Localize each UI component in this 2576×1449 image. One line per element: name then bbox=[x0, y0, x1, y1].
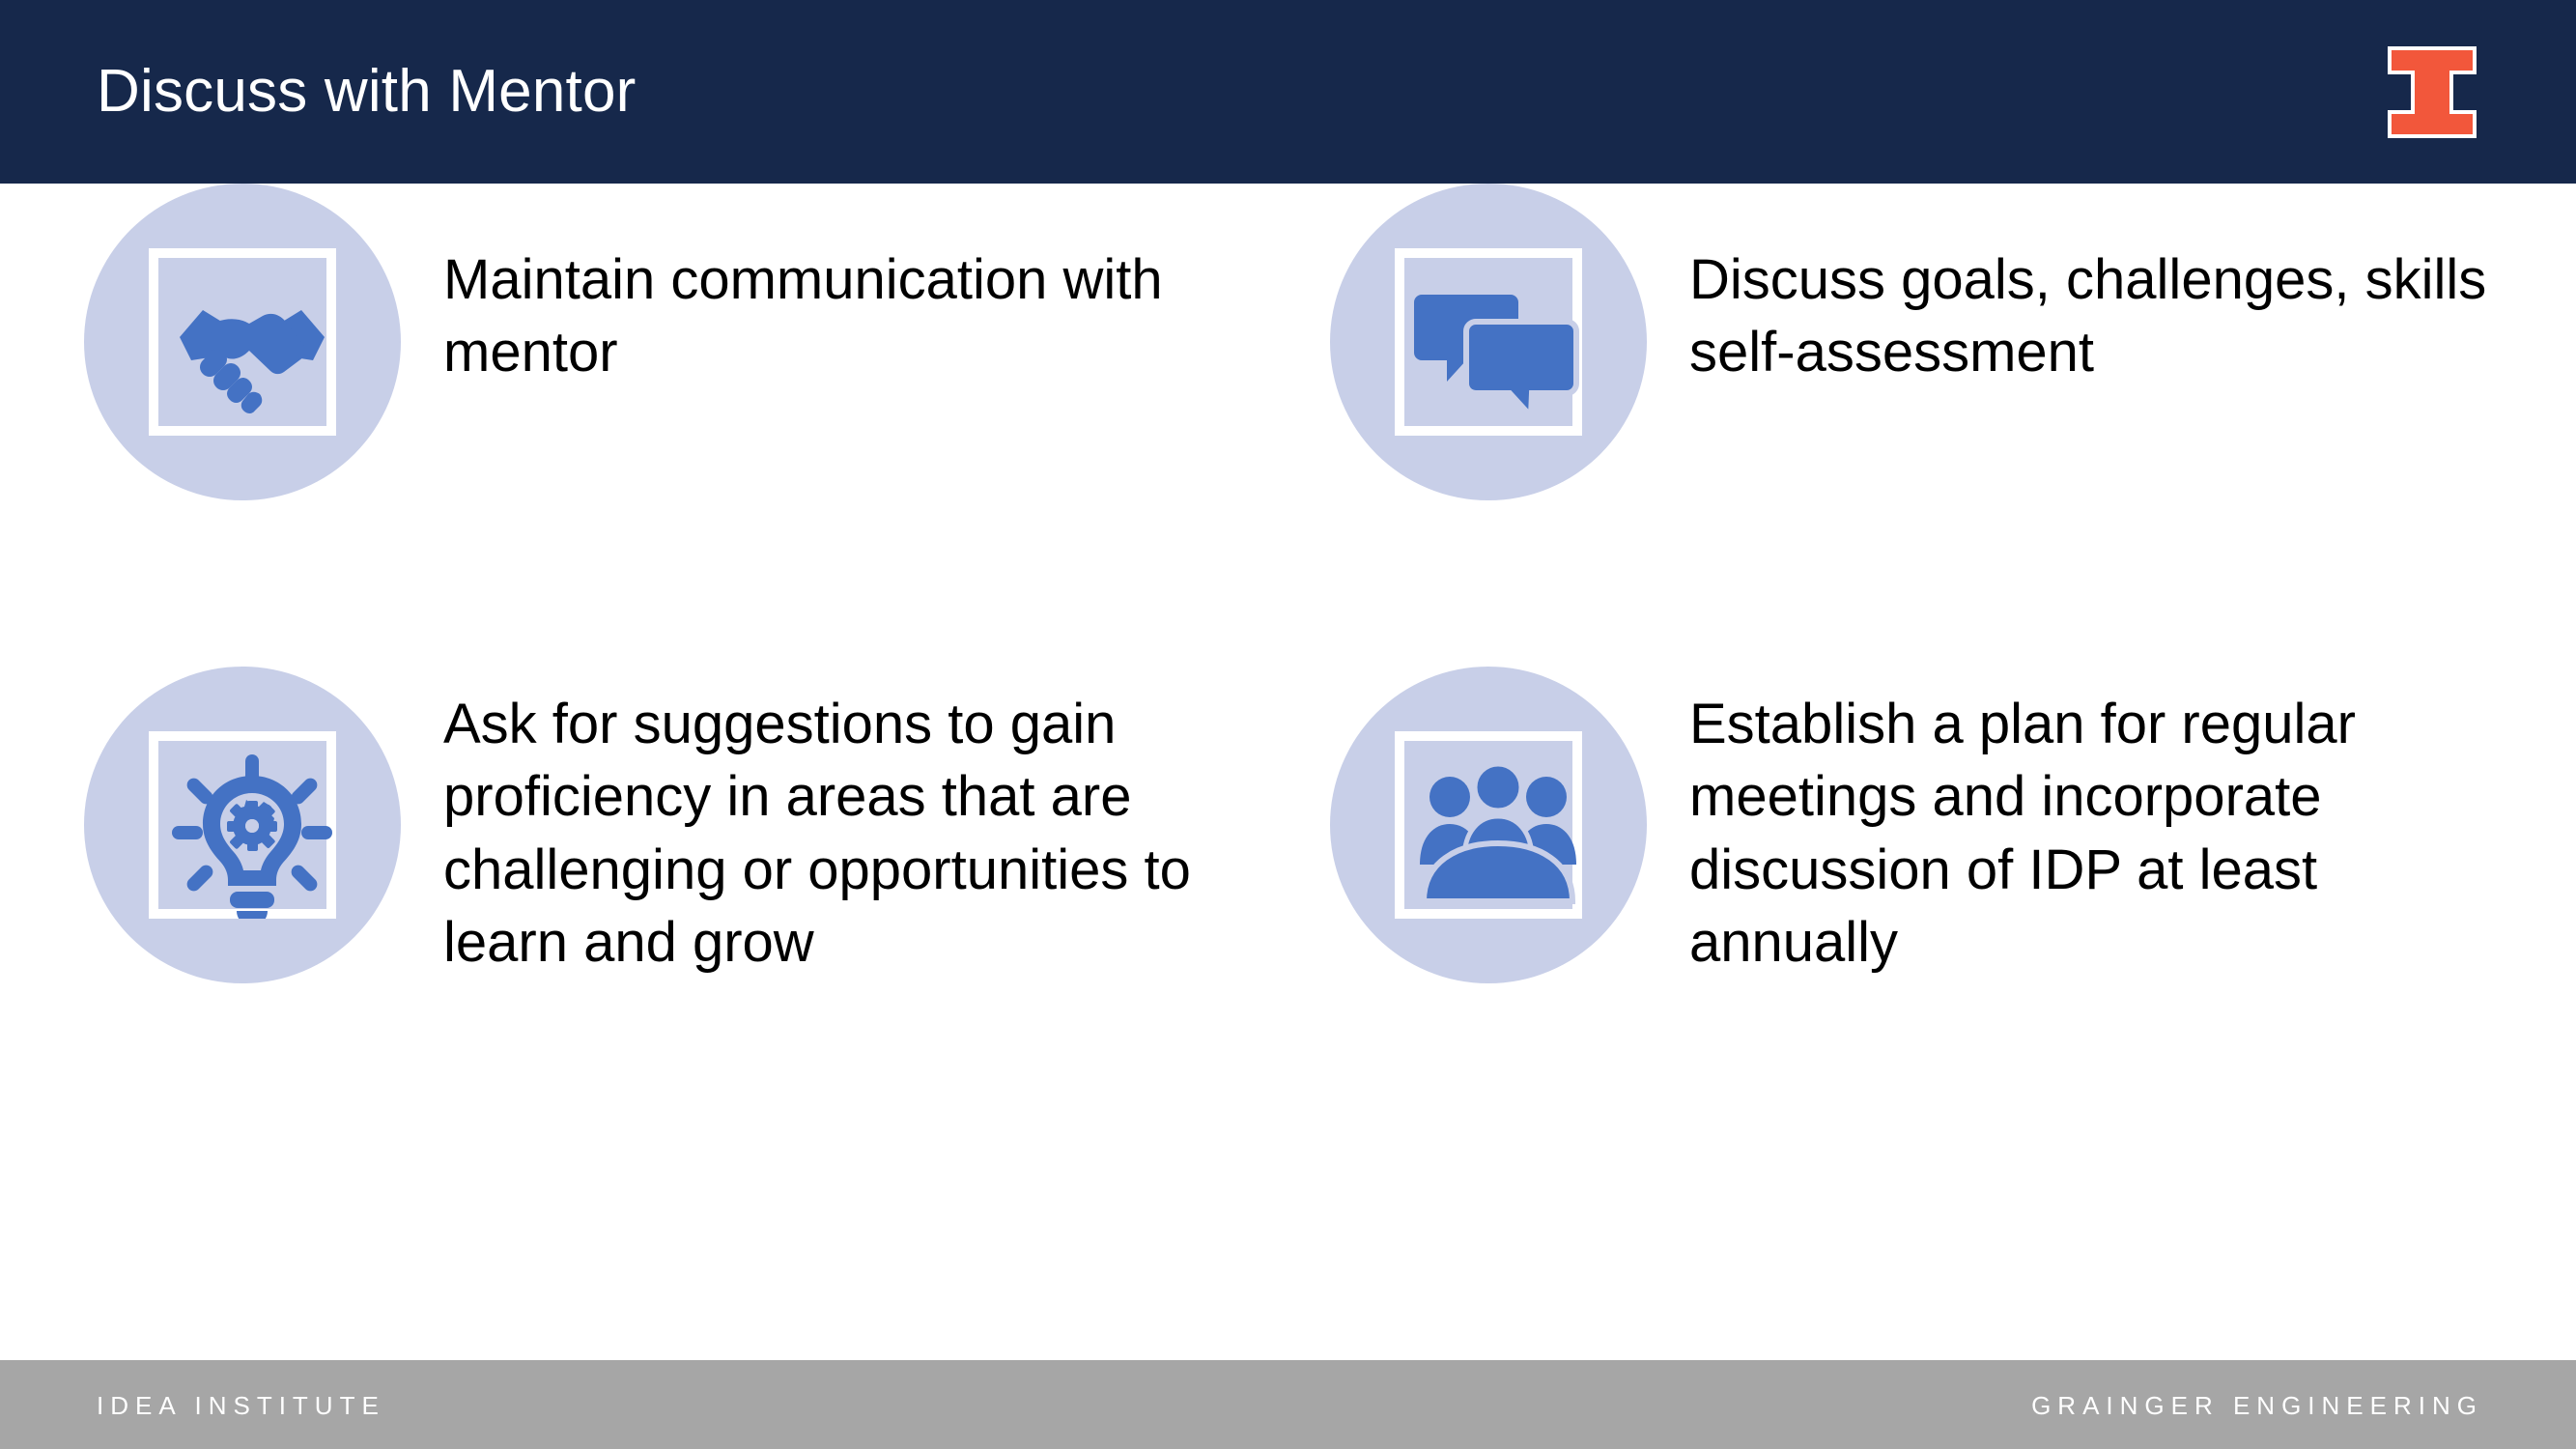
icon-circle bbox=[84, 667, 401, 983]
list-item: Maintain communication with mentor bbox=[84, 184, 1255, 500]
slide: Discuss with Mentor bbox=[0, 0, 2576, 1449]
group-meeting-icon bbox=[1414, 751, 1582, 919]
footer-right-label: GRAINGER ENGINEERING bbox=[2031, 1391, 2483, 1421]
speech-bubbles-icon bbox=[1414, 268, 1582, 436]
list-item-text: Maintain communication with mentor bbox=[443, 184, 1255, 389]
icon-frame bbox=[149, 731, 336, 919]
icon-frame bbox=[1395, 248, 1582, 436]
icon-circle bbox=[1330, 667, 1647, 983]
icon-frame bbox=[149, 248, 336, 436]
footer-left-label: IDEA INSTITUTE bbox=[97, 1391, 385, 1421]
icon-frame bbox=[1395, 731, 1582, 919]
icon-circle bbox=[1330, 184, 1647, 500]
lightbulb-gear-icon bbox=[168, 751, 336, 919]
list-item: Establish a plan for regular meetings an… bbox=[1330, 667, 2539, 983]
list-item: Discuss goals, challenges, skills self-a… bbox=[1330, 184, 2501, 500]
page-title: Discuss with Mentor bbox=[97, 43, 637, 140]
icon-circle bbox=[84, 184, 401, 500]
list-item: Ask for suggestions to gain proficiency … bbox=[84, 667, 1255, 983]
footer-band: IDEA INSTITUTE GRAINGER ENGINEERING bbox=[0, 1360, 2576, 1449]
handshake-icon bbox=[168, 268, 336, 436]
list-item-text: Establish a plan for regular meetings an… bbox=[1689, 667, 2539, 980]
list-item-text: Discuss goals, challenges, skills self-a… bbox=[1689, 184, 2501, 389]
list-item-text: Ask for suggestions to gain proficiency … bbox=[443, 667, 1255, 980]
university-of-illinois-block-i-logo bbox=[2388, 46, 2477, 138]
